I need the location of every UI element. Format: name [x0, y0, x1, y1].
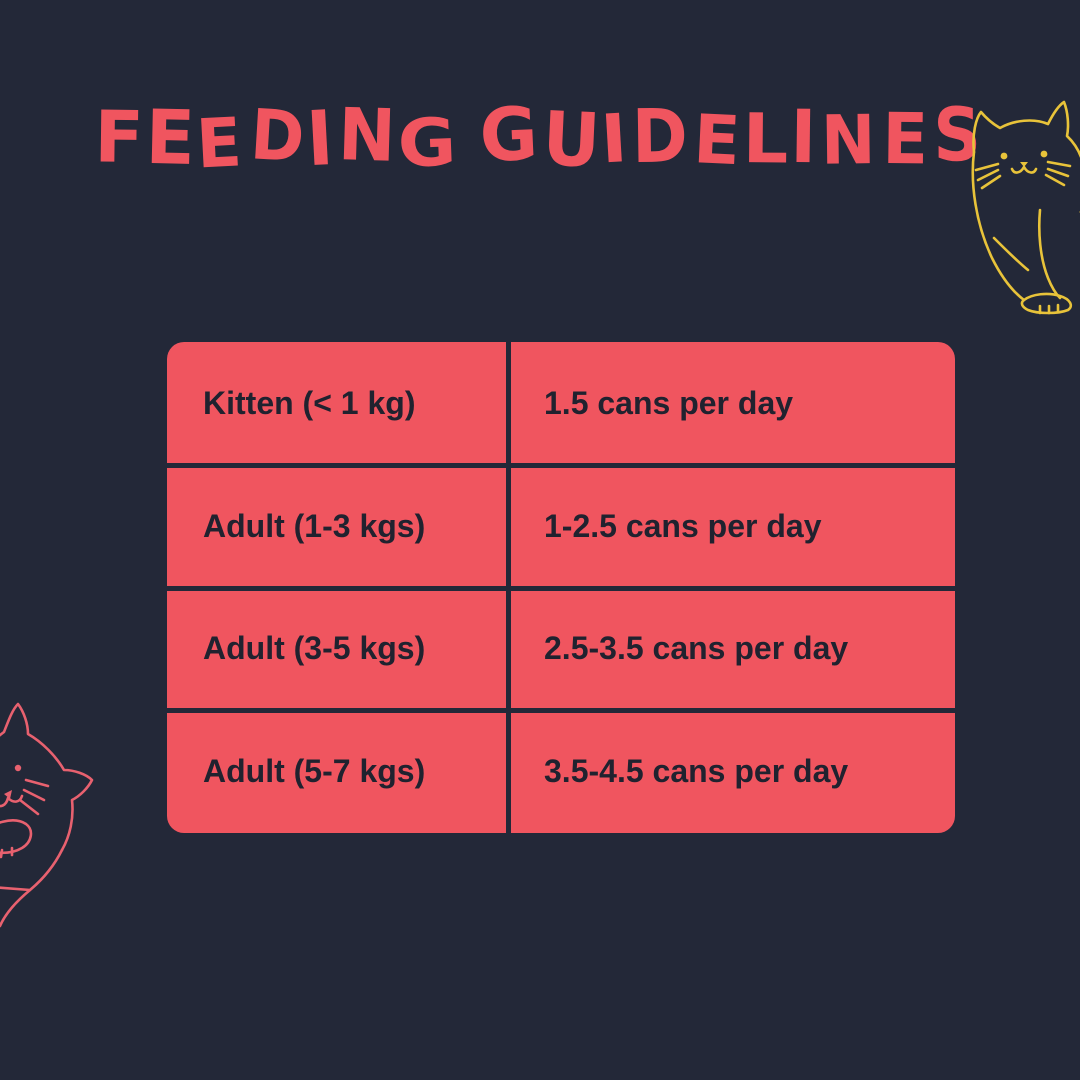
- cell-amount: 1.5 cans per day: [508, 342, 955, 465]
- page-title: FEEDING GUIDELINES: [0, 104, 1080, 174]
- table-row: Kitten (< 1 kg) 1.5 cans per day: [167, 342, 955, 465]
- poster-canvas: FEEDING GUIDELINES Kitten (< 1 kg) 1.5 c…: [0, 0, 1080, 1080]
- table-row: Adult (5-7 kgs) 3.5-4.5 cans per day: [167, 710, 955, 833]
- cell-amount: 2.5-3.5 cans per day: [508, 588, 955, 711]
- table-row: Adult (3-5 kgs) 2.5-3.5 cans per day: [167, 588, 955, 711]
- feeding-guidelines-table: Kitten (< 1 kg) 1.5 cans per day Adult (…: [167, 342, 955, 833]
- cell-weight-range: Adult (1-3 kgs): [167, 465, 508, 588]
- cell-amount: 3.5-4.5 cans per day: [508, 710, 955, 833]
- cat-tilted-icon: [0, 700, 142, 1030]
- cell-weight-range: Adult (3-5 kgs): [167, 588, 508, 711]
- cell-weight-range: Kitten (< 1 kg): [167, 342, 508, 465]
- table-row: Adult (1-3 kgs) 1-2.5 cans per day: [167, 465, 955, 588]
- cell-amount: 1-2.5 cans per day: [508, 465, 955, 588]
- cell-weight-range: Adult (5-7 kgs): [167, 710, 508, 833]
